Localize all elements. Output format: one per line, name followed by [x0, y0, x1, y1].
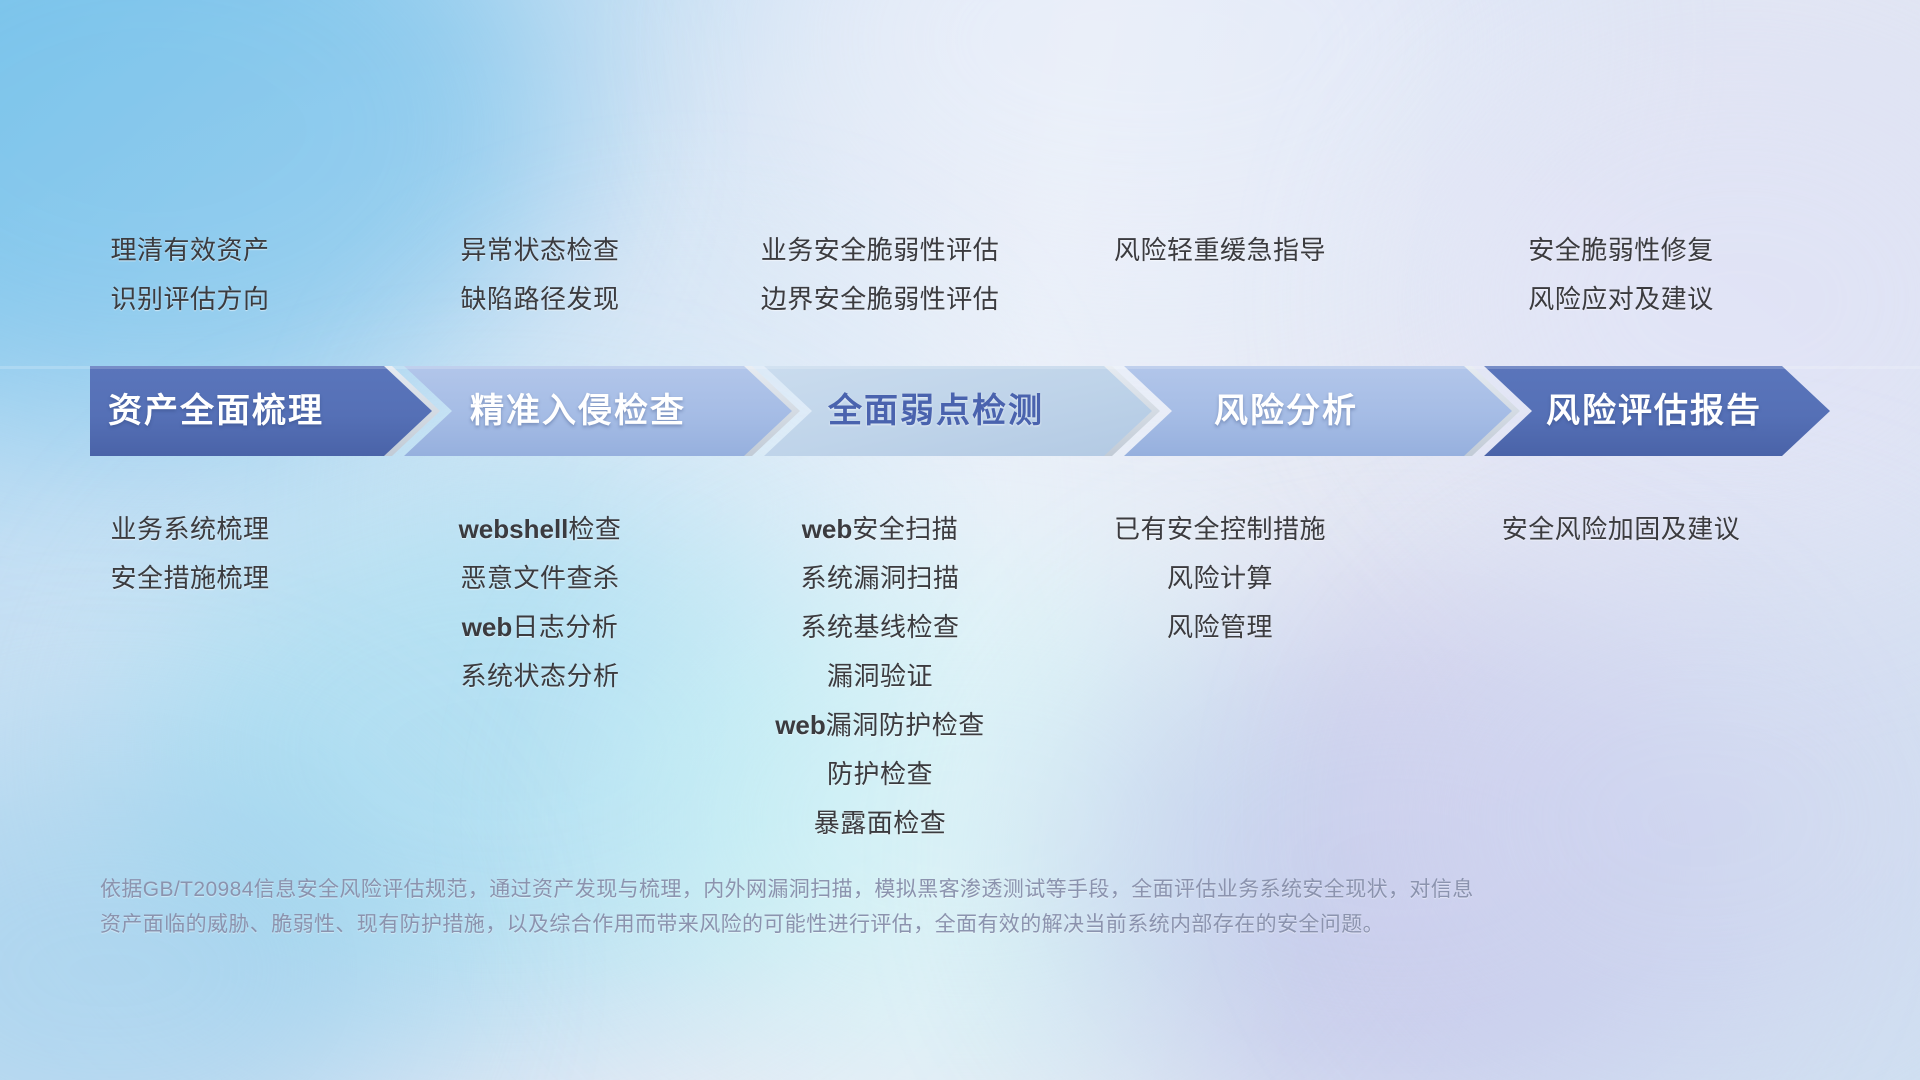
list-item: web日志分析: [370, 603, 710, 652]
caption-line-1: 依据GB/T20984信息安全风险评估规范，通过资产发现与梳理，内外网漏洞扫描，…: [100, 872, 1660, 907]
list-item: 异常状态检查: [370, 226, 710, 275]
list-item: web安全扫描: [710, 505, 1050, 554]
chevron-label-intrusion-check: 精准入侵检查: [470, 366, 720, 456]
list-item: 恶意文件查杀: [370, 554, 710, 603]
list-item: webshell检查: [370, 505, 710, 554]
bottom-items-intrusion-check: webshell检查 恶意文件查杀 web日志分析 系统状态分析: [370, 505, 710, 701]
list-item: 业务安全脆弱性评估: [710, 226, 1050, 275]
top-items-risk-report: 安全脆弱性修复 风险应对及建议: [1390, 226, 1920, 324]
top-items-row: 理清有效资产 识别评估方向 异常状态检查 缺陷路径发现 业务安全脆弱性评估 边界…: [0, 226, 1920, 324]
list-item: 缺陷路径发现: [370, 275, 710, 324]
list-item: 业务系统梳理: [10, 505, 370, 554]
list-item: 系统基线检查: [710, 603, 1050, 652]
chevron-label-risk-analysis: 风险分析: [1214, 366, 1434, 456]
bottom-items-risk-report: 安全风险加固及建议: [1390, 505, 1920, 554]
top-items-weakness-detection: 业务安全脆弱性评估 边界安全脆弱性评估: [710, 226, 1050, 324]
list-item: 识别评估方向: [10, 275, 370, 324]
list-item: 边界安全脆弱性评估: [710, 275, 1050, 324]
list-item: 防护检查: [710, 750, 1050, 799]
bottom-items-weakness-detection: web安全扫描 系统漏洞扫描 系统基线检查 漏洞验证 web漏洞防护检查 防护检…: [710, 505, 1050, 848]
bottom-items-row: 业务系统梳理 安全措施梳理 webshell检查 恶意文件查杀 web日志分析 …: [0, 505, 1920, 848]
list-item: 已有安全控制措施: [1050, 505, 1390, 554]
chevron-label-asset-inventory: 资产全面梳理: [108, 366, 358, 456]
list-item: 系统状态分析: [370, 652, 710, 701]
chevron-label-risk-report: 风险评估报告: [1546, 366, 1826, 456]
list-item: 系统漏洞扫描: [710, 554, 1050, 603]
top-items-risk-analysis: 风险轻重缓急指导: [1050, 226, 1390, 275]
list-item: 风险计算: [1050, 554, 1390, 603]
top-items-asset-inventory: 理清有效资产 识别评估方向: [0, 226, 370, 324]
caption-line-2: 资产面临的威胁、脆弱性、现有防护措施，以及综合作用而带来风险的可能性进行评估，全…: [100, 907, 1660, 942]
list-item: 风险管理: [1050, 603, 1390, 652]
list-item: 安全脆弱性修复: [1390, 226, 1852, 275]
chevron-label-weakness-detection: 全面弱点检测: [828, 366, 1078, 456]
list-item: 风险轻重缓急指导: [1050, 226, 1390, 275]
list-item: 安全措施梳理: [10, 554, 370, 603]
list-item: 暴露面检查: [710, 799, 1050, 848]
top-items-intrusion-check: 异常状态检查 缺陷路径发现: [370, 226, 710, 324]
slide-canvas: 理清有效资产 识别评估方向 异常状态检查 缺陷路径发现 业务安全脆弱性评估 边界…: [0, 0, 1920, 1080]
footer-caption: 依据GB/T20984信息安全风险评估规范，通过资产发现与梳理，内外网漏洞扫描，…: [100, 872, 1660, 942]
bottom-items-risk-analysis: 已有安全控制措施 风险计算 风险管理: [1050, 505, 1390, 652]
list-item: 风险应对及建议: [1390, 275, 1852, 324]
bottom-items-asset-inventory: 业务系统梳理 安全措施梳理: [0, 505, 370, 603]
list-item: 理清有效资产: [10, 226, 370, 275]
list-item: 漏洞验证: [710, 652, 1050, 701]
list-item: web漏洞防护检查: [710, 701, 1050, 750]
list-item: 安全风险加固及建议: [1390, 505, 1852, 554]
